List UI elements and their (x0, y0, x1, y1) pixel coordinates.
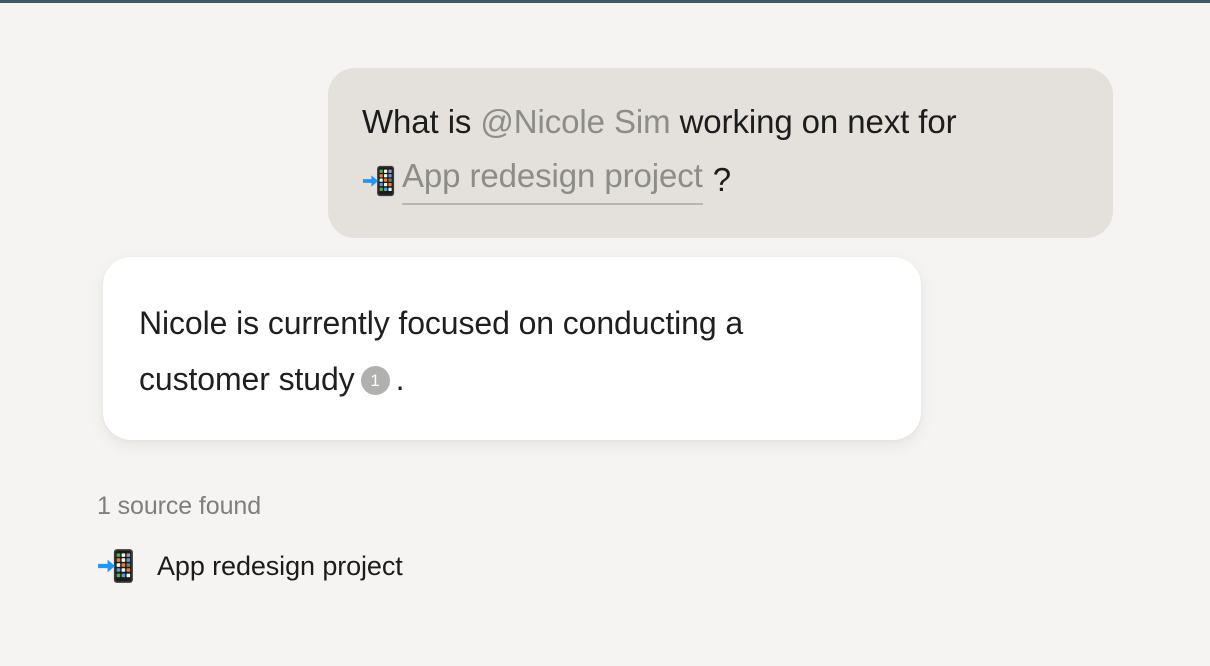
question-bubble: What is @Nicole Sim working on next for (328, 68, 1113, 238)
question-prefix: What is (362, 103, 480, 140)
answer-body: Nicole is currently focused on conductin… (139, 305, 743, 397)
answer-trailing-punctuation: . (396, 361, 405, 397)
question-line-1: What is @Nicole Sim working on next for (362, 94, 1077, 150)
mobile-phone-with-arrow-icon (97, 547, 135, 585)
question-line-2: App redesign project ? (362, 152, 1077, 208)
question-mark: ? (713, 152, 731, 208)
document-reference-link[interactable]: App redesign project (402, 156, 703, 205)
sources-found-label: 1 source found (97, 490, 403, 522)
conversation-stage: What is @Nicole Sim working on next for (0, 3, 1210, 666)
source-item-label: App redesign project (157, 549, 403, 583)
mention-chip-nicole-sim[interactable]: @Nicole Sim (480, 103, 670, 140)
answer-text: Nicole is currently focused on conductin… (139, 295, 881, 407)
mobile-phone-with-arrow-icon (362, 164, 396, 198)
source-list-item[interactable]: App redesign project (97, 547, 403, 585)
sources-section: 1 source found (97, 490, 403, 585)
question-suffix: working on next for (671, 103, 957, 140)
answer-card: Nicole is currently focused on conductin… (103, 257, 921, 440)
citation-badge-1[interactable]: 1 (361, 366, 390, 395)
